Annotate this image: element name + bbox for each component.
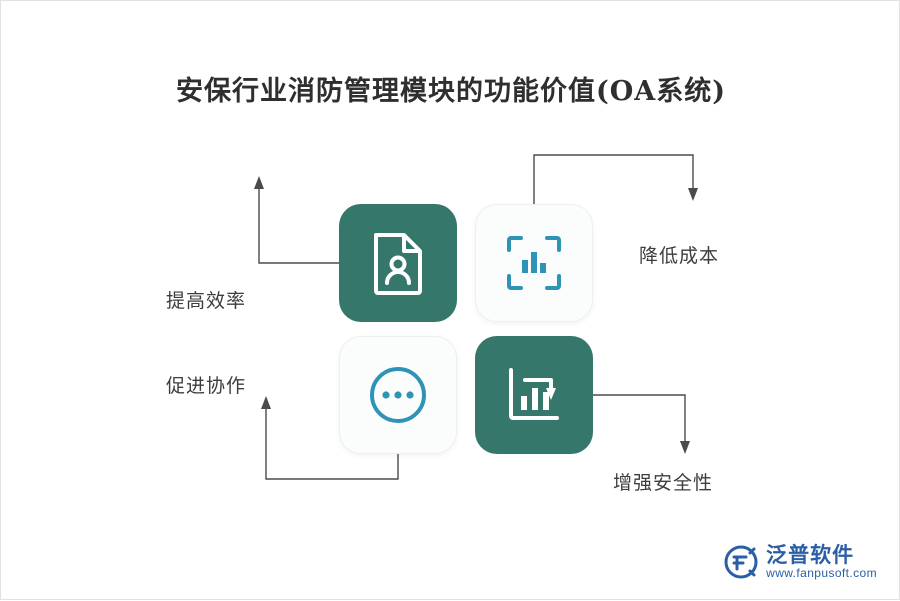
connector-efficiency <box>259 186 339 263</box>
arrowhead-collaborate <box>261 396 271 409</box>
watermark-name: 泛普软件 <box>766 543 877 567</box>
connector-cost <box>534 155 693 204</box>
label-efficiency: 提高效率 <box>166 286 246 313</box>
arrowhead-safety <box>680 441 690 454</box>
arrowhead-efficiency <box>254 176 264 189</box>
tile-dots[interactable] <box>339 336 457 454</box>
tile-growth[interactable] <box>475 336 593 454</box>
label-safety: 增强安全性 <box>613 468 713 495</box>
label-cost: 降低成本 <box>639 241 719 268</box>
tile-document[interactable] <box>339 204 457 322</box>
arrowhead-cost <box>688 188 698 201</box>
brand-logo-icon <box>724 545 758 579</box>
diagram-canvas: 安保行业消防管理模块的功能价值(OA系统) <box>0 0 900 600</box>
label-collaborate: 促进协作 <box>166 371 246 398</box>
watermark: 泛普软件 www.fanpusoft.com <box>724 543 877 581</box>
document-person-icon <box>368 231 428 295</box>
tile-chart[interactable] <box>475 204 593 322</box>
watermark-url: www.fanpusoft.com <box>766 567 877 581</box>
connector-safety <box>593 395 685 444</box>
page-title: 安保行业消防管理模块的功能价值(OA系统) <box>1 69 900 108</box>
bar-chart-arrow-icon <box>505 366 563 424</box>
bar-chart-box-icon <box>505 234 563 292</box>
three-dots-circle-icon <box>368 365 428 425</box>
